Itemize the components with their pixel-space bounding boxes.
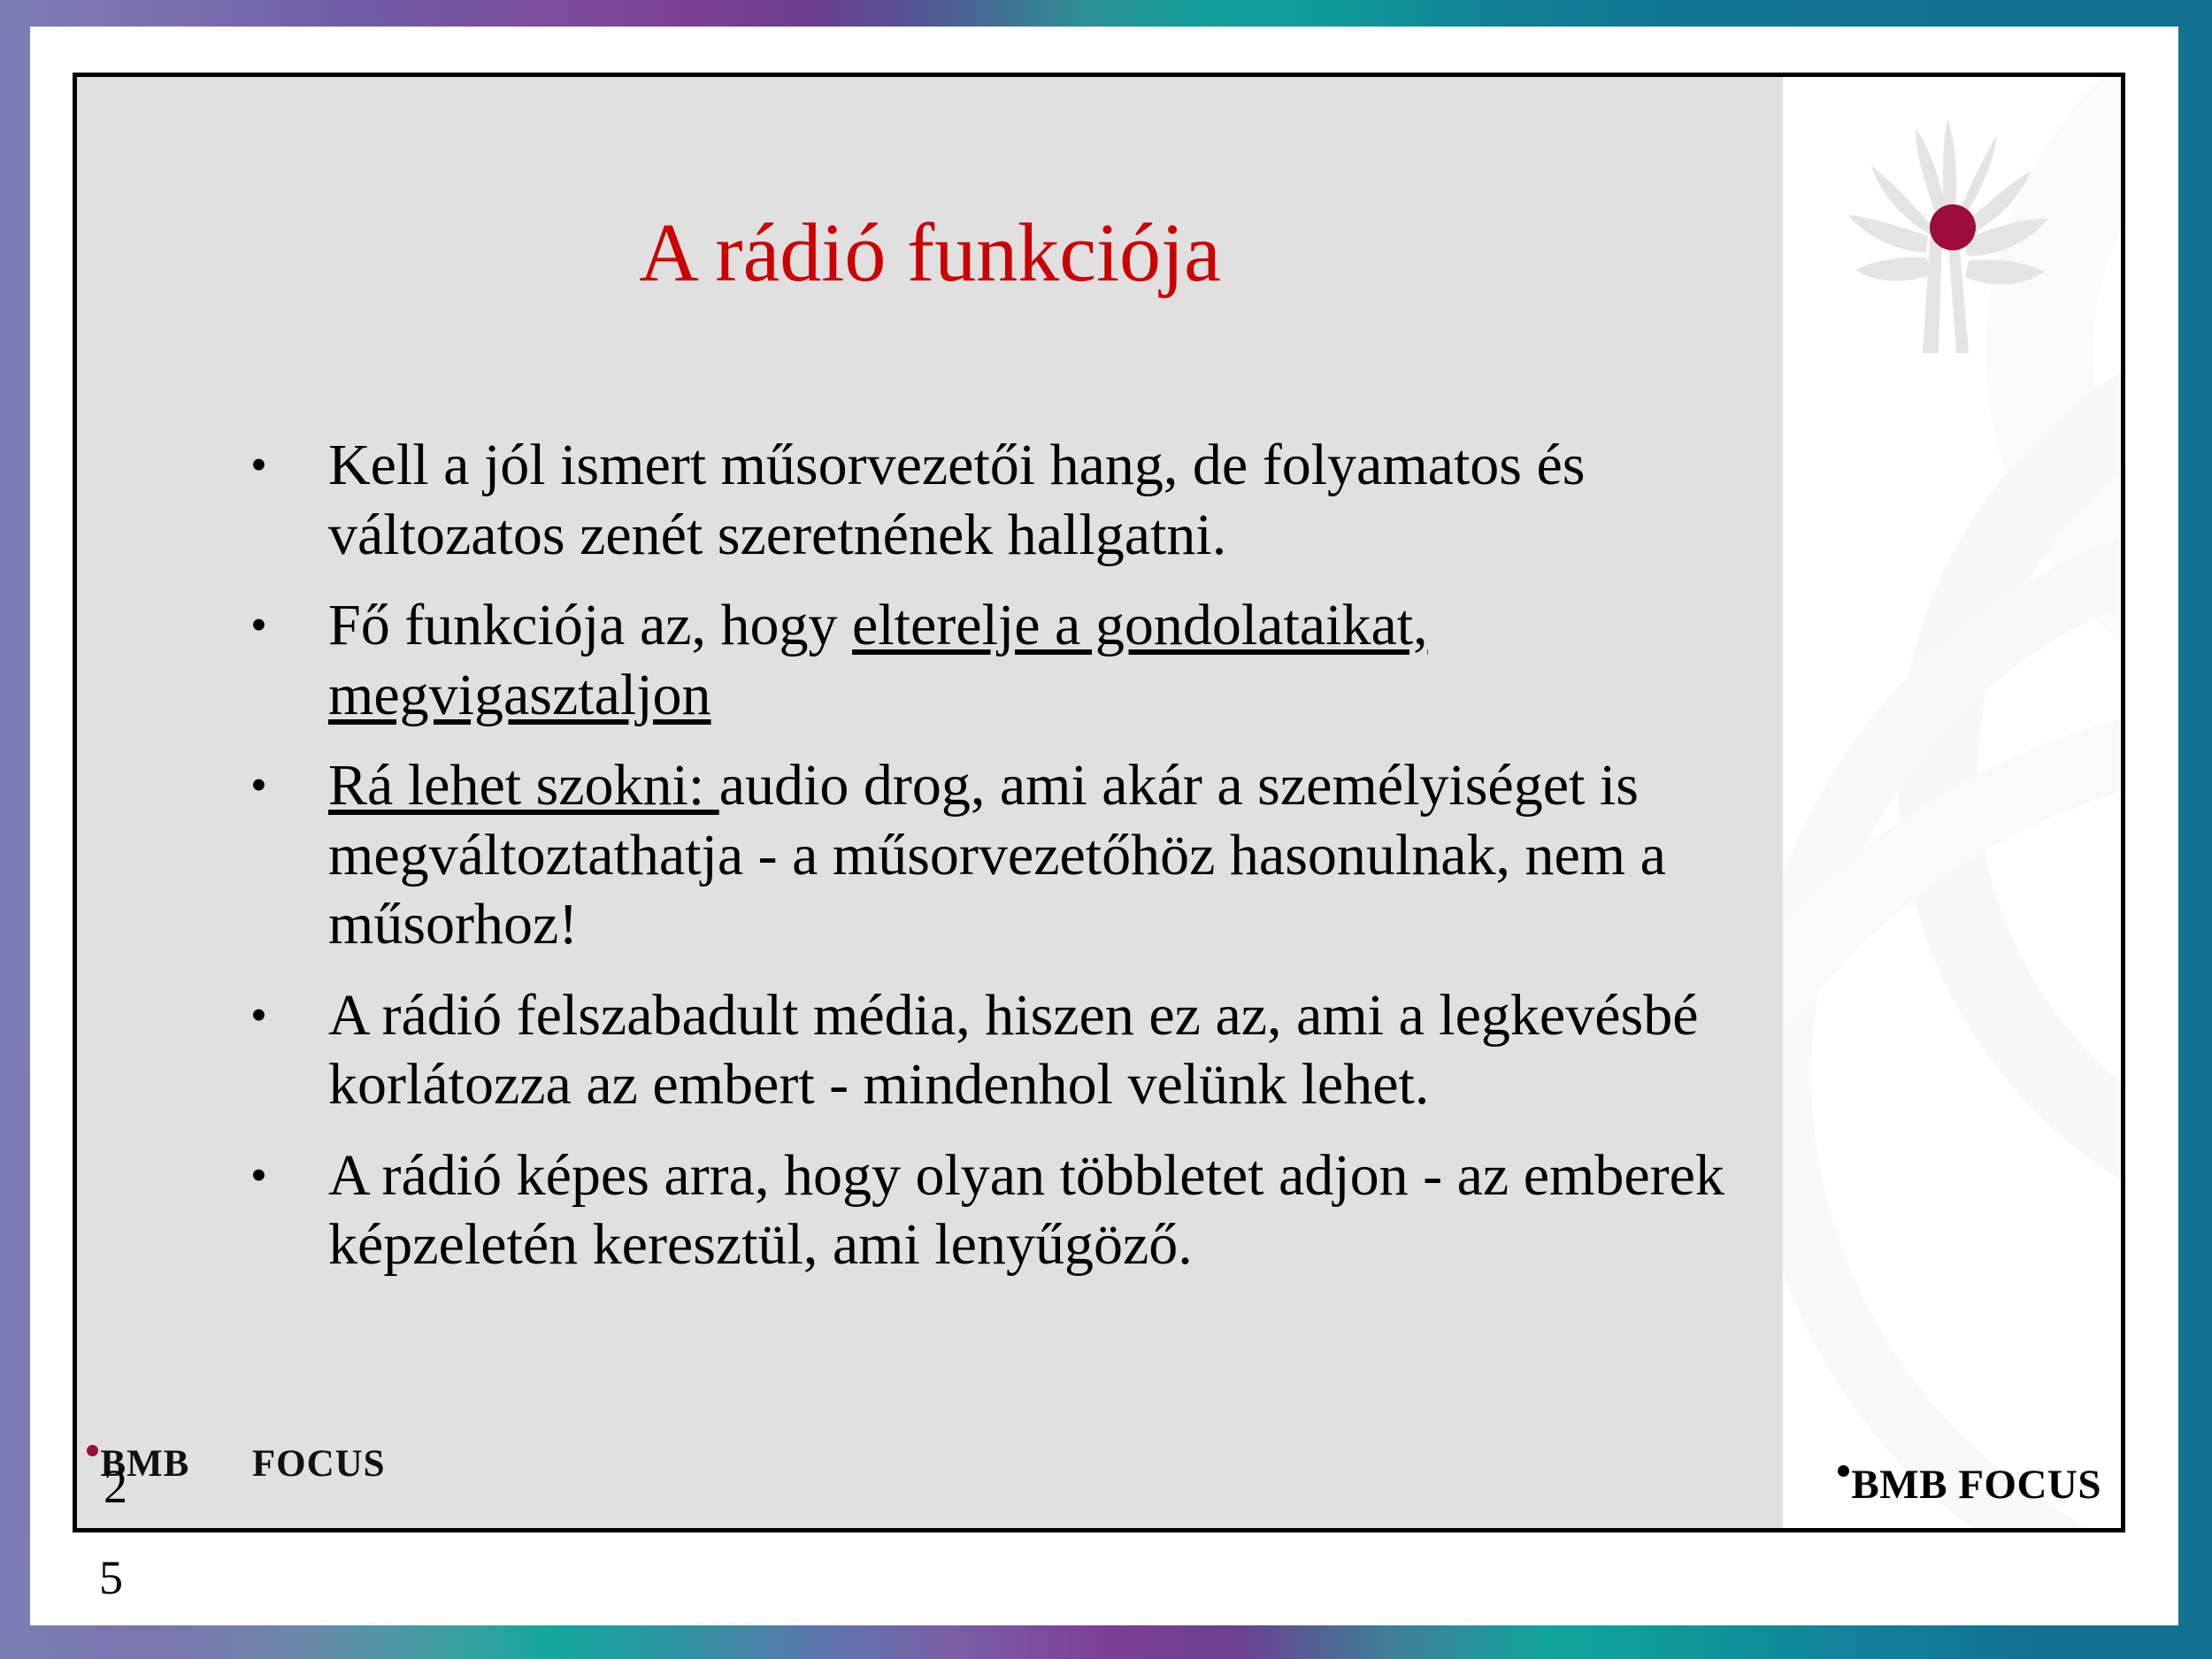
logo-footer-text: BMB FOCUS (1851, 1462, 2101, 1508)
plain-text: A rádió felszabadult média, hiszen ez az… (328, 983, 1699, 1118)
logo-wordmark-focus: FOCUS (252, 1443, 386, 1485)
watermark-arc-2 (1898, 298, 2121, 1254)
list-item: •Rá lehet szokni: audio drog, ami akár a… (250, 751, 1737, 960)
bullet-marker-icon: • (250, 981, 328, 1049)
bmb-focus-logo-icon (1786, 96, 2105, 362)
list-item-text: A rádió képes arra, hogy olyan többletet… (328, 1141, 1737, 1280)
bullet-marker-icon: • (250, 591, 328, 659)
list-item: •A rádió felszabadult média, hiszen ez a… (250, 981, 1737, 1120)
presentation-page: A rádió funkciója •Kell a jól ismert műs… (0, 0, 2212, 1659)
emphasis-underlined-text: Rá lehet szokni: (328, 753, 719, 818)
list-item: •Fő funkciója az, hogy elterelje a gondo… (250, 591, 1737, 730)
frame-edge-top (0, 0, 2212, 27)
list-item: •Kell a jól ismert műsorvezetői hang, de… (250, 431, 1737, 570)
list-item: •A rádió képes arra, hogy olyan többlete… (250, 1141, 1737, 1280)
watermark-arc-3 (1783, 502, 2121, 1528)
bullet-marker-icon: • (250, 1141, 328, 1210)
list-item-text: Kell a jól ismert műsorvezetői hang, de … (328, 431, 1737, 570)
bullet-marker-icon: • (250, 431, 328, 499)
watermark-arc-4 (1783, 696, 2121, 1528)
logo-footer-dot-icon (1838, 1465, 1849, 1477)
list-item-text: A rádió felszabadult média, hiszen ez az… (328, 981, 1737, 1120)
plain-text: A rádió képes arra, hogy olyan többletet… (328, 1143, 1724, 1278)
list-item-text: Fő funkciója az, hogy elterelje a gondol… (328, 591, 1737, 730)
page-title: A rádió funkciója (77, 210, 1783, 297)
slide: A rádió funkciója •Kell a jól ismert műs… (73, 73, 2125, 1532)
bullet-marker-icon: • (250, 751, 328, 819)
plain-text: Fő funkciója az, hogy (328, 593, 852, 657)
list-item-text: Rá lehet szokni: audio drog, ami akár a … (328, 751, 1737, 960)
plain-text: Kell a jól ismert műsorvezetői hang, de … (328, 433, 1585, 567)
bullet-list: •Kell a jól ismert műsorvezetői hang, de… (250, 431, 1737, 1302)
sheet-number: 5 (99, 1550, 123, 1605)
logo-wordmark-footer: BMB FOCUS (1838, 1461, 2101, 1509)
frame-edge-right (2178, 0, 2212, 1659)
frame-edge-left (0, 0, 30, 1659)
slide-number: 2 (104, 1459, 127, 1514)
frame-edge-bottom (0, 1625, 2212, 1659)
logo-dot-icon (87, 1445, 98, 1456)
